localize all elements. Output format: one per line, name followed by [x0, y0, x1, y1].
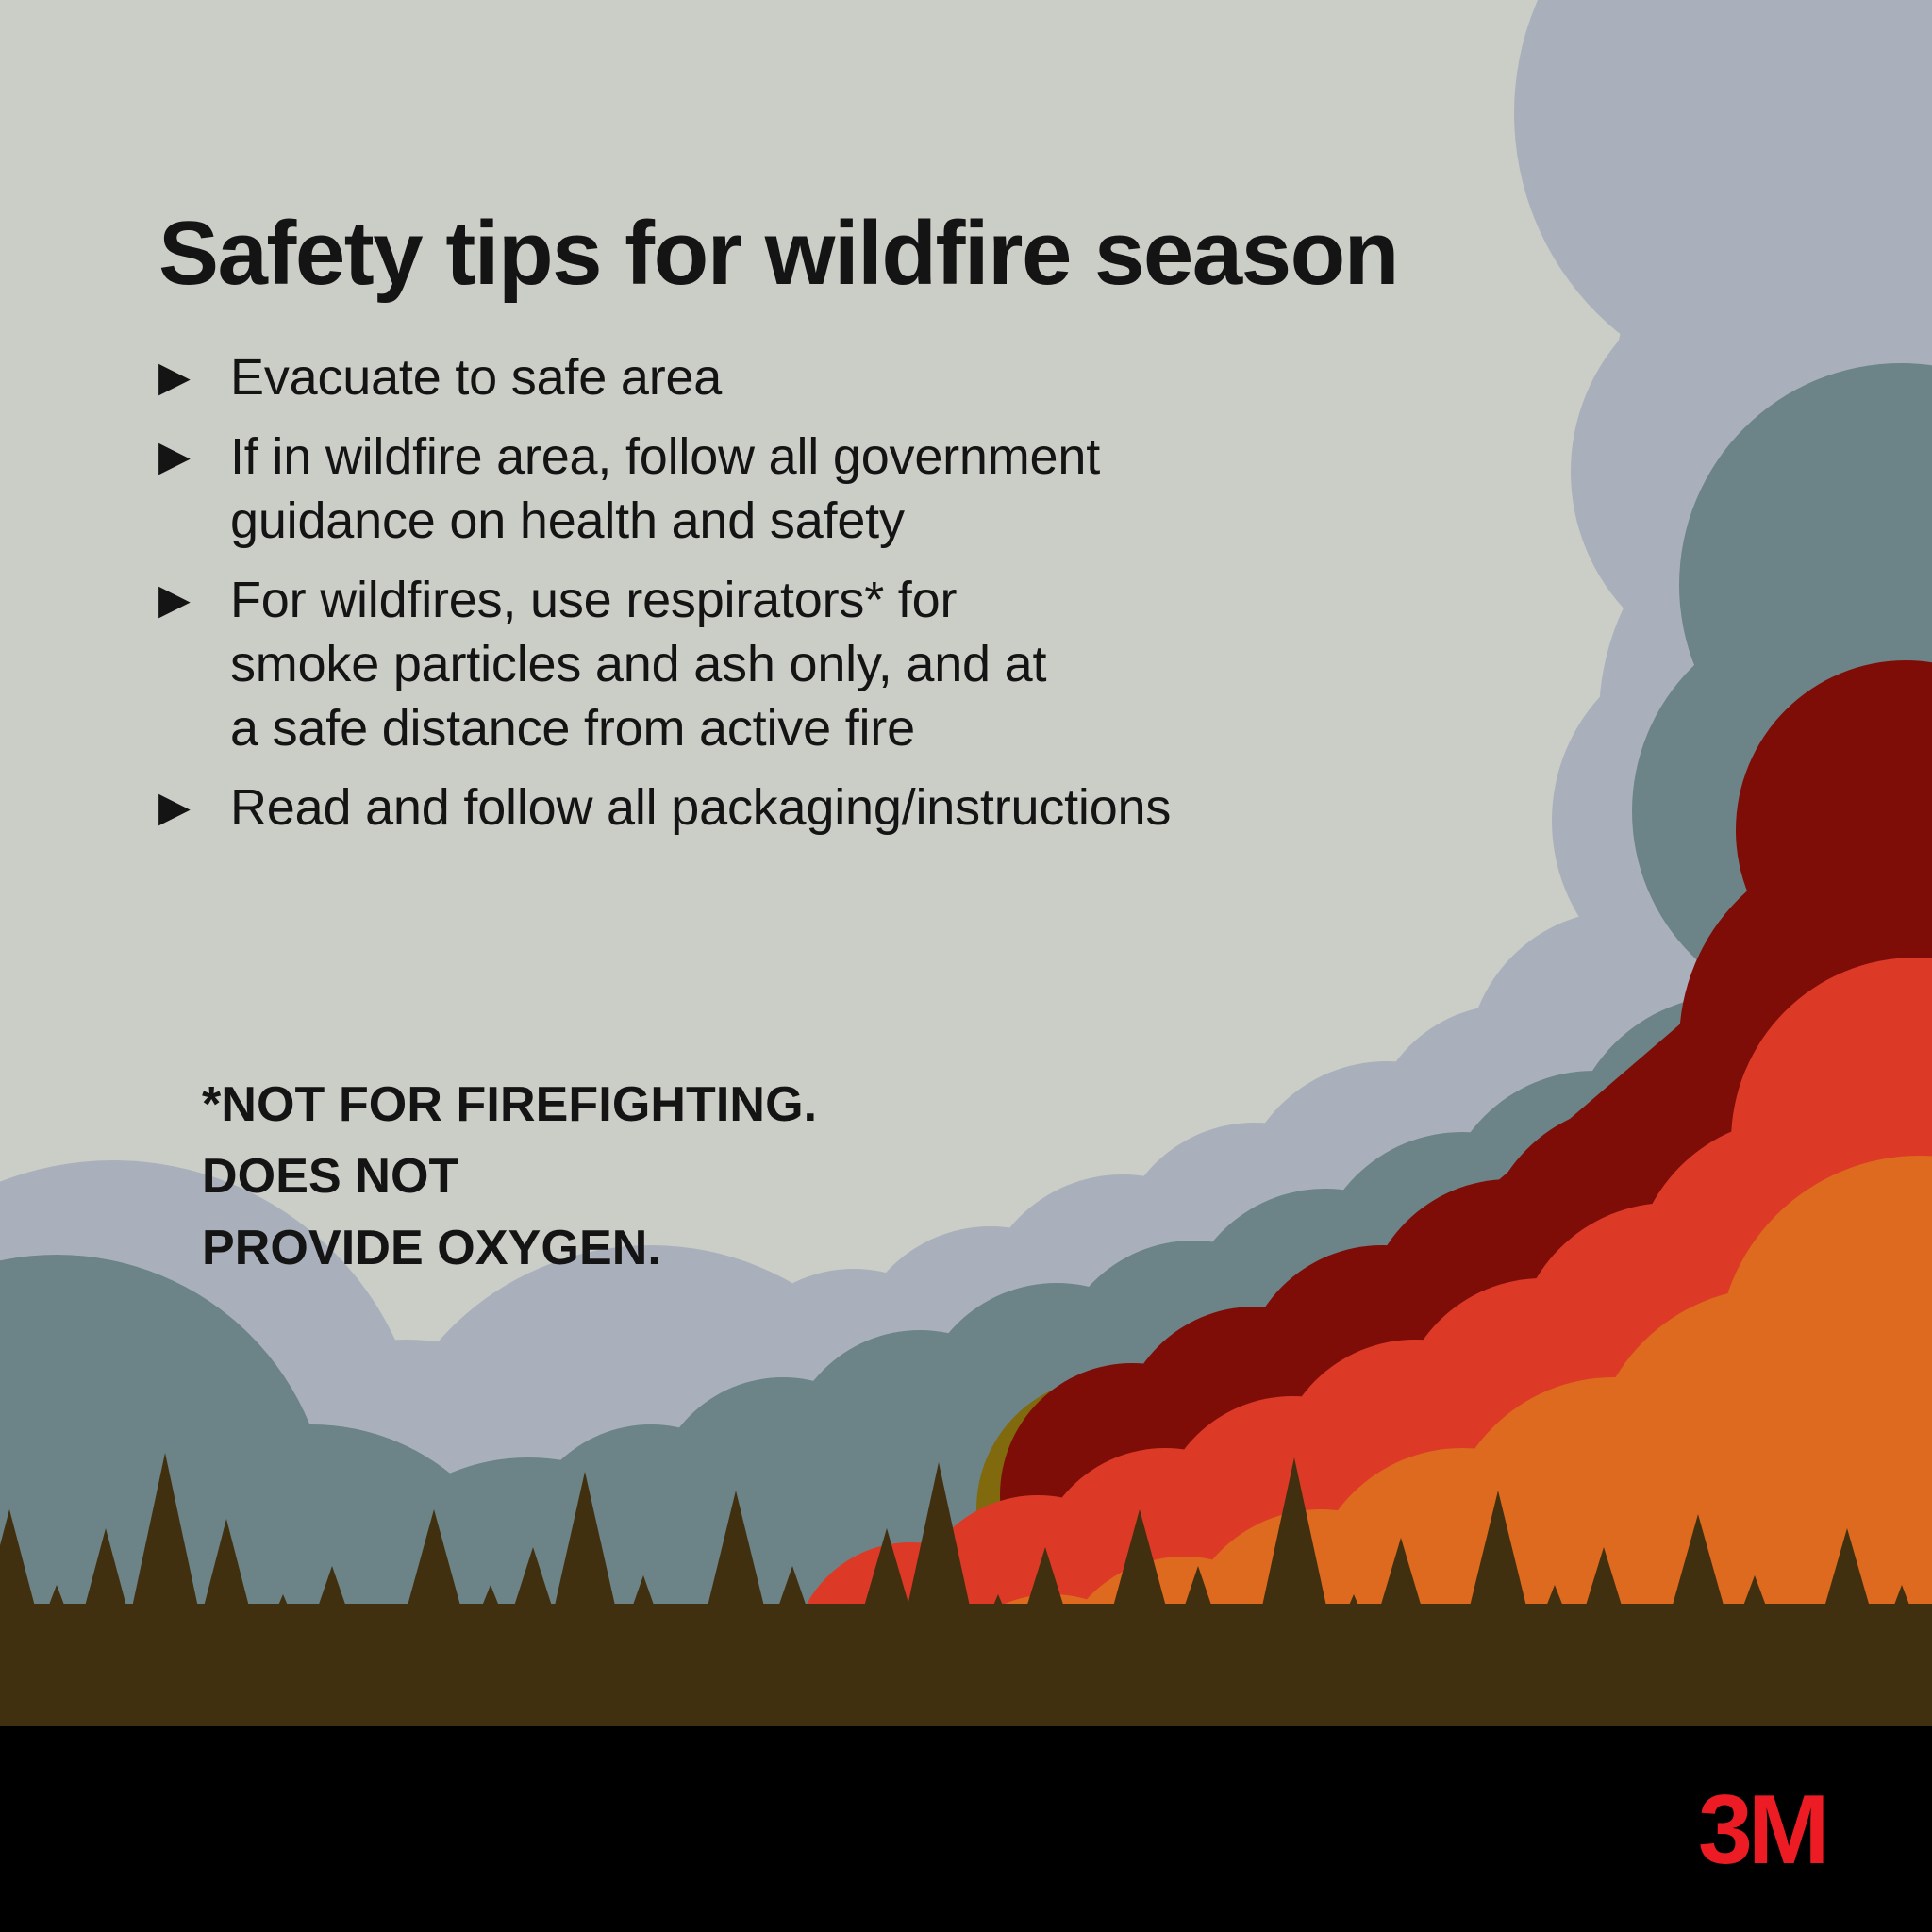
triangle-bullet-icon: ▶	[158, 775, 230, 837]
triangle-bullet-icon: ▶	[158, 425, 230, 486]
list-item-line: Read and follow all packaging/instructio…	[230, 775, 1385, 840]
page-title: Safety tips for wildfire season	[158, 207, 1398, 302]
safety-tips-list: ▶ Evacuate to safe area ▶ If in wildfire…	[158, 345, 1385, 855]
warning-disclaimer: *NOT FOR FIREFIGHTING. DOES NOT PROVIDE …	[202, 1069, 817, 1284]
list-item: ▶ If in wildfire area, follow all govern…	[158, 425, 1385, 553]
wildfire-safety-poster: Safety tips for wildfire season ▶ Evacua…	[0, 0, 1932, 1932]
triangle-bullet-icon: ▶	[158, 345, 230, 407]
list-item-line: For wildfires, use respirators* for	[230, 568, 1385, 632]
list-item: ▶ For wildfires, use respirators* for sm…	[158, 568, 1385, 760]
warning-line: DOES NOT	[202, 1141, 817, 1212]
list-item-line: Evacuate to safe area	[230, 345, 1385, 409]
list-item-text: If in wildfire area, follow all governme…	[230, 425, 1385, 553]
list-item-line: guidance on health and safety	[230, 489, 1385, 553]
list-item-line: a safe distance from active fire	[230, 696, 1385, 760]
list-item: ▶ Read and follow all packaging/instruct…	[158, 775, 1385, 840]
list-item: ▶ Evacuate to safe area	[158, 345, 1385, 409]
list-item-line: smoke particles and ash only, and at	[230, 632, 1385, 696]
warning-line: *NOT FOR FIREFIGHTING.	[202, 1069, 817, 1141]
list-item-text: Evacuate to safe area	[230, 345, 1385, 409]
list-item-text: For wildfires, use respirators* for smok…	[230, 568, 1385, 760]
warning-line: PROVIDE OXYGEN.	[202, 1212, 817, 1284]
brand-logo-3m: 3M	[1698, 1781, 1824, 1879]
list-item-text: Read and follow all packaging/instructio…	[230, 775, 1385, 840]
triangle-bullet-icon: ▶	[158, 568, 230, 629]
footer-bar	[0, 1726, 1932, 1932]
list-item-line: If in wildfire area, follow all governme…	[230, 425, 1385, 489]
